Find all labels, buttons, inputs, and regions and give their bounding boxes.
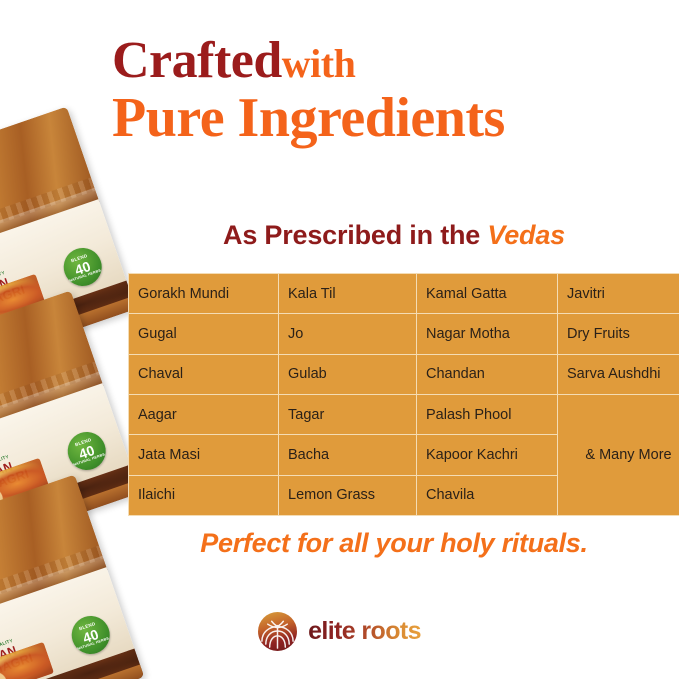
page-title: Craftedwith Pure Ingredients [112, 36, 664, 146]
table-row: Chaval Gulab Chandan Sarva Aushdhi [129, 354, 679, 394]
table-cell: Kala Til [279, 274, 417, 314]
ingredient-table-container: Gorakh Mundi Kala Til Kamal Gatta Javitr… [128, 273, 659, 516]
ingredient-table: Gorakh Mundi Kala Til Kamal Gatta Javitr… [128, 273, 679, 516]
table-cell: Javitri [558, 274, 679, 314]
subtitle-emphasis-vedas: Vedas [487, 220, 565, 250]
pouch-blend-badge: BLEND 40 NATURAL HERBS [58, 243, 106, 291]
table-cell: Sarva Aushdhi [558, 354, 679, 394]
table-row: Gugal Jo Nagar Motha Dry Fruits [129, 314, 679, 354]
headline-word-crafted: Crafted [112, 32, 282, 89]
table-row: Aagar Tagar Palash Phool & Many More [129, 394, 679, 434]
table-cell: Tagar [279, 394, 417, 434]
table-cell: Nagar Motha [417, 314, 558, 354]
product-pouch-stack: elite roots PREMIUM QUALITY HAWAN SAMAGR… [0, 128, 138, 679]
table-row: Gorakh Mundi Kala Til Kamal Gatta Javitr… [129, 274, 679, 314]
table-cell: Chavila [417, 475, 558, 515]
table-cell: Gorakh Mundi [129, 274, 279, 314]
brand-wordmark: elite roots [308, 617, 421, 646]
table-cell: Chandan [417, 354, 558, 394]
table-cell: Gulab [279, 354, 417, 394]
table-cell: Gugal [129, 314, 279, 354]
table-cell: Chaval [129, 354, 279, 394]
table-cell: Bacha [279, 435, 417, 475]
brand-footer: elite roots [0, 612, 679, 651]
table-cell: Kamal Gatta [417, 274, 558, 314]
subtitle-prefix: As Prescribed in the [223, 220, 480, 250]
infographic-canvas: elite roots PREMIUM QUALITY HAWAN SAMAGR… [0, 0, 679, 679]
headline-line-2: Pure Ingredients [112, 91, 664, 146]
table-cell: Jata Masi [129, 435, 279, 475]
headline-word-with: with [282, 41, 356, 86]
table-cell: Dry Fruits [558, 314, 679, 354]
elite-roots-root-circle-icon [258, 612, 297, 651]
table-cell: Ilaichi [129, 475, 279, 515]
table-cell: Palash Phool [417, 394, 558, 434]
pouch-blend-badge: BLEND 40 NATURAL HERBS [62, 427, 110, 475]
tagline: Perfect for all your holy rituals. [128, 528, 660, 559]
table-cell: Jo [279, 314, 417, 354]
table-cell: Aagar [129, 394, 279, 434]
table-cell: Kapoor Kachri [417, 435, 558, 475]
headline-line-1: Craftedwith [112, 36, 664, 87]
table-cell-many-more: & Many More [558, 394, 679, 515]
subtitle: As Prescribed in the Vedas [128, 220, 660, 251]
table-cell: Lemon Grass [279, 475, 417, 515]
